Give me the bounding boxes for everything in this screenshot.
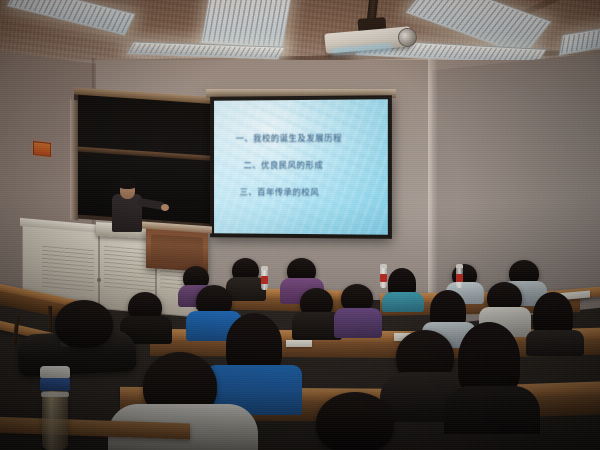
sports-bottle-ring: [41, 392, 69, 397]
student-torso: [226, 277, 266, 301]
cabinet-knob: [97, 278, 101, 282]
classroom-photo: 一、我校的诞生及发展历程 二、优良民风的形成 三、百年传承的校风: [0, 0, 600, 450]
sports-bottle-cap: [40, 366, 70, 378]
wall-corner-edge: [428, 58, 438, 299]
notebook: [286, 340, 312, 347]
lecturer-hair: [119, 180, 136, 189]
student-head: [458, 322, 520, 396]
bottle-label: [456, 274, 463, 282]
student-torso: [526, 330, 584, 356]
wall-sign: [33, 141, 51, 157]
student-torso: [444, 386, 540, 434]
cabinet-door-seam: [98, 236, 100, 306]
bottle-cap: [456, 264, 463, 268]
bottle-cap: [380, 264, 387, 268]
slide-line-2: 二、优良民风的形成: [214, 159, 388, 171]
student-torso: [382, 292, 424, 312]
bottle-label: [380, 274, 387, 282]
slide-line-1: 一、我校的诞生及发展历程: [214, 132, 388, 145]
student-head: [316, 392, 394, 450]
bottle-cap: [261, 266, 268, 270]
sports-bottle-band: [40, 378, 70, 391]
student-torso: [334, 308, 382, 338]
blackboard-side-edge: [70, 100, 78, 221]
student-head: [55, 300, 113, 348]
slide-content: 一、我校的诞生及发展历程 二、优良民风的形成 三、百年传承的校风: [214, 99, 388, 234]
cabinet-vent: [42, 246, 94, 295]
slide-line-3: 三、百年传承的校风: [214, 186, 388, 199]
bottle-label: [261, 276, 268, 284]
fluorescent-light-icon: [201, 0, 292, 49]
projection-screen: 一、我校的诞生及发展历程 二、优良民风的形成 三、百年传承的校风: [214, 99, 388, 234]
lecturer-hand: [161, 204, 169, 211]
podium-front-panel: [151, 234, 203, 266]
